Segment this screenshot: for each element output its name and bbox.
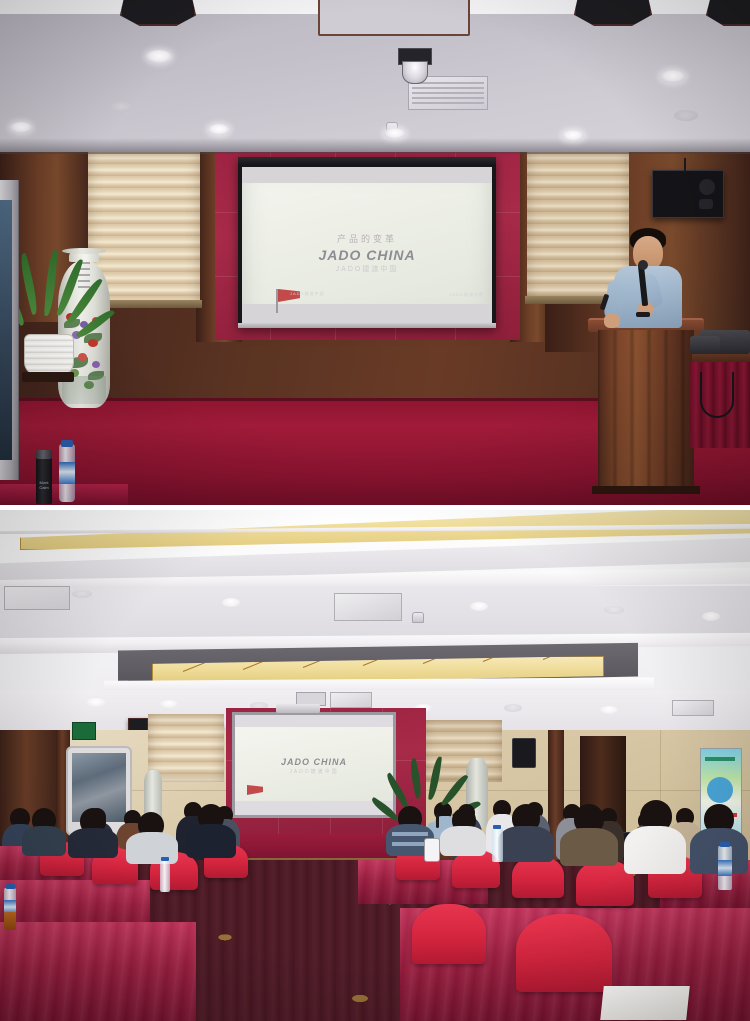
presenter-watch <box>636 312 650 317</box>
ceiling-downlight-11 <box>600 706 618 714</box>
downlight-4 <box>208 124 230 135</box>
thermos <box>36 452 52 504</box>
slide-flag-icon-2 <box>247 785 263 795</box>
water-bottle-l2 <box>160 860 170 892</box>
ceiling-vent-icon-2 <box>334 593 402 621</box>
screen-weight-bar <box>238 323 496 328</box>
ceiling-vent-icon-4 <box>672 700 714 716</box>
slide-bottom-band <box>242 304 492 324</box>
presenter-hand-left <box>604 314 620 328</box>
ceiling-shadow <box>0 138 750 154</box>
laptop-bag-2 <box>690 336 720 354</box>
attendee-l4 <box>186 804 236 856</box>
attendee-r2 <box>440 808 486 854</box>
presenter <box>596 228 692 328</box>
bottled-tea-l1 <box>4 912 16 930</box>
ceiling-downlight-7 <box>160 700 178 708</box>
slide-corner-mark: JADO捷渡中国 <box>449 292 484 298</box>
downlight-1 <box>146 50 172 63</box>
bottom-photo: JADO CHINA JADO捷渡中国 <box>0 508 750 1021</box>
screen-surface: 产品的变革 JADO CHINA JADO捷渡中国 JADO捷渡中国 JADO捷… <box>242 167 492 324</box>
slide-subtitle-2: JADO捷渡中国 <box>235 768 393 775</box>
wall-speaker-icon <box>652 170 724 218</box>
downlight-2 <box>110 102 132 112</box>
downlight-8 <box>562 130 584 141</box>
screen-surface-2: JADO CHINA JADO捷渡中国 <box>235 715 393 815</box>
top-photo: 产品的变革 JADO CHINA JADO捷渡中国 JADO捷渡中国 JADO捷… <box>0 0 750 508</box>
smoke-detector-icon-2 <box>412 612 424 623</box>
screen-housing <box>238 157 496 166</box>
thermos-cap <box>36 450 52 459</box>
screen-housing-2 <box>276 704 320 713</box>
microphone-head <box>638 260 648 270</box>
downlight-5 <box>384 128 406 139</box>
water-bottle-label-1 <box>59 462 75 484</box>
attendee-r4 <box>560 804 618 864</box>
handout-paper <box>600 986 690 1020</box>
audience-chair-r3 <box>512 856 564 898</box>
plant-pot <box>24 334 74 376</box>
wall-speaker-icon-3 <box>512 738 536 768</box>
ceiling-access-panel <box>318 0 470 36</box>
ceiling-downlight-6 <box>86 698 106 707</box>
screenshot-root: 产品的变革 JADO CHINA JADO捷渡中国 JADO捷渡中国 JADO捷… <box>0 0 750 1021</box>
attendee-l3 <box>124 812 178 862</box>
downlight-7 <box>674 110 698 121</box>
slide-subtitle: JADO捷渡中国 <box>242 264 492 274</box>
projector-icon <box>398 48 430 82</box>
ceiling-downlight-10 <box>504 704 522 712</box>
water-bottle-label-r2 <box>718 860 732 876</box>
photo-divider <box>0 505 750 510</box>
water-bottle-r1 <box>492 828 503 862</box>
podium <box>598 330 694 492</box>
cable <box>700 372 734 418</box>
projection-screen: 产品的变革 JADO CHINA JADO捷渡中国 JADO捷渡中国 JADO捷… <box>238 157 496 328</box>
attendee-r3 <box>498 804 554 860</box>
water-bottle-cap-l1 <box>6 884 15 889</box>
attendee-r5 <box>624 800 686 872</box>
window-blinds-left-2 <box>148 714 224 782</box>
plant-stand <box>22 372 74 382</box>
ceiling-vent-icon-1 <box>4 586 70 610</box>
thermos-label: MontCalm <box>37 480 51 491</box>
attendee-l2 <box>66 808 118 856</box>
ceiling-vent-icon-3 <box>330 692 372 708</box>
ceiling-downlight-1 <box>222 598 240 607</box>
audience-chair-r7 <box>516 914 612 992</box>
speaker-bracket <box>684 158 686 172</box>
water-bottle-cap-r2 <box>720 842 730 847</box>
podium-base <box>592 486 700 494</box>
water-bottle-cap-r1 <box>493 825 501 829</box>
projection-screen-2: JADO CHINA JADO捷渡中国 <box>232 712 396 818</box>
water-bottle-cap-1 <box>61 440 73 447</box>
ceiling-downlight-3 <box>72 590 92 598</box>
downlight-3 <box>10 122 32 133</box>
audience-chair-r6 <box>412 904 486 964</box>
slide-flag-caption: JADO捷渡中国 <box>290 291 325 297</box>
slide-brand: JADO CHINA <box>242 247 492 263</box>
potted-plant <box>10 250 90 380</box>
slide-heading-cn: 产品的变革 <box>242 232 492 245</box>
attendee-l1 <box>20 808 66 854</box>
ceiling-downlight-2 <box>470 602 488 611</box>
exit-sign <box>72 722 96 740</box>
downlight-6 <box>660 70 686 83</box>
slide-flagpole <box>276 289 278 313</box>
slide-top-band <box>242 167 492 183</box>
ceiling-downlight-4 <box>604 606 624 614</box>
ceiling-downlight-5 <box>702 612 720 621</box>
rollup-banner-art <box>0 200 12 460</box>
conference-table-l3 <box>0 922 196 1021</box>
slide-brand-2: JADO CHINA <box>235 757 393 767</box>
water-bottle-cap-l2 <box>161 857 169 861</box>
smartphone <box>424 838 440 862</box>
